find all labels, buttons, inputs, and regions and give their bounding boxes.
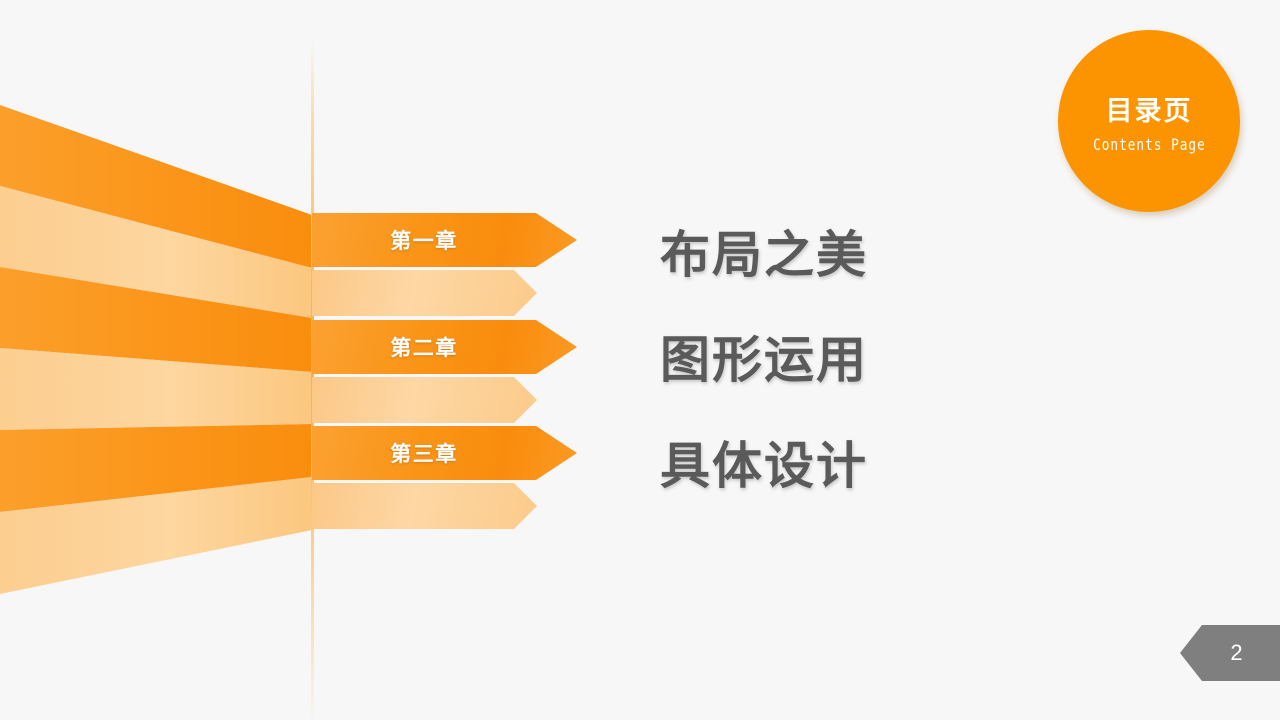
slide-canvas: 第一章 布局之美 第二章 图形运用 第三章 具体设计 目录页 Contents … — [0, 0, 1280, 720]
chapter-arrow-primary[interactable]: 第一章 — [312, 213, 577, 267]
page-number-badge: 2 — [1180, 625, 1280, 681]
chapter-row[interactable]: 第一章 布局之美 — [0, 206, 900, 316]
chapter-title[interactable]: 布局之美 — [660, 220, 868, 282]
chapter-label: 第一章 — [312, 225, 536, 255]
chapter-arrow-secondary — [312, 377, 537, 423]
chapter-arrow-secondary — [312, 270, 537, 316]
chapter-arrow-primary[interactable]: 第二章 — [312, 320, 577, 374]
chapter-row[interactable]: 第三章 具体设计 — [0, 419, 900, 529]
contents-subtitle: Contents Page — [1093, 135, 1206, 154]
chapter-title[interactable]: 具体设计 — [660, 431, 868, 493]
contents-circle-badge: 目录页 Contents Page — [1058, 30, 1240, 212]
chapter-label: 第三章 — [312, 438, 536, 468]
chapter-arrow-primary[interactable]: 第三章 — [312, 426, 577, 480]
page-number-text: 2 — [1216, 640, 1243, 666]
chapter-arrow-secondary — [312, 483, 537, 529]
contents-title: 目录页 — [1106, 89, 1193, 128]
chapter-title[interactable]: 图形运用 — [660, 325, 868, 387]
chapter-banner[interactable]: 第三章 — [312, 419, 612, 529]
chapter-label: 第二章 — [312, 332, 536, 362]
chapter-banner[interactable]: 第一章 — [312, 206, 612, 316]
chapter-banner[interactable]: 第二章 — [312, 313, 612, 423]
chapter-row[interactable]: 第二章 图形运用 — [0, 313, 900, 423]
